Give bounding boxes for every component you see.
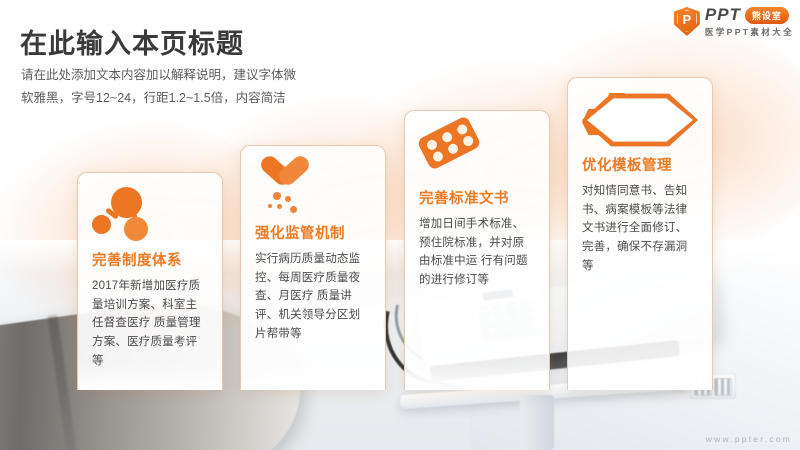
hexagons-icon [582, 92, 698, 148]
feature-card-2-body: 实行病历质量动态监控、每周医疗质量夜查、月医疗 质量讲评、机关领导分区划片帮带等 [255, 250, 371, 343]
feature-card-4[interactable]: 优化模板管理 对知情同意书、告知书、病案模板等法律文书进行全面修订、完善，确保不… [567, 77, 713, 390]
brand-logo-row-top: PPT 熊设室 [705, 5, 794, 25]
feature-card-1-heading: 完善制度体系 [92, 249, 208, 270]
feature-card-2-heading: 强化监管机制 [255, 222, 371, 243]
feature-card-2-bottom-fade [241, 364, 385, 390]
feature-card-4-body: 对知情同意书、告知书、病案模板等法律文书进行全面修订、完善，确保不存漏洞等 [582, 182, 698, 275]
shield-letter: P [674, 13, 700, 26]
feature-card-1[interactable]: 完善制度体系 2017年新增加医疗质量培训方案、科室主任督查医疗 质量管理方案、… [77, 172, 223, 390]
feature-card-3-heading: 完善标准文书 [419, 187, 535, 208]
feature-card-3[interactable]: 完善标准文书 增加日间手术标准、预住院标准，并对原由标准中运 行有问题的进行修订… [404, 110, 550, 390]
feature-card-4-bottom-fade [568, 364, 712, 390]
page-subtitle: 请在此处添加文本内容加以解释说明，建议字体微 软雅黑，字号12~24，行距1.2… [21, 64, 351, 110]
page-subtitle-line-2: 软雅黑，字号12~24，行距1.2~1.5倍，内容简洁 [21, 87, 351, 110]
brand-wordmark: PPT [705, 5, 741, 25]
feature-card-4-heading: 优化模板管理 [582, 154, 698, 175]
page-title: 在此输入本页标题 [20, 22, 244, 61]
slide-canvas: 在此输入本页标题 请在此处添加文本内容加以解释说明，建议字体微 软雅黑，字号12… [0, 0, 800, 450]
brand-tagline: 医学PPT素材大全 [705, 26, 794, 38]
feature-card-2[interactable]: 强化监管机制 实行病历质量动态监控、每周医疗质量夜查、月医疗 质量讲评、机关领导… [240, 145, 386, 390]
molecule-icon [92, 187, 208, 243]
page-subtitle-line-1: 请在此处添加文本内容加以解释说明，建议字体微 [21, 64, 351, 87]
brand-logo-text: PPT 熊设室 医学PPT素材大全 [705, 5, 794, 38]
brand-badge: 熊设室 [745, 7, 789, 24]
brand-logo[interactable]: P PPT 熊设室 医学PPT素材大全 [674, 5, 794, 38]
feature-card-3-body: 增加日间手术标准、预住院标准，并对原由标准中运 行有问题的进行修订等 [419, 215, 535, 290]
shield-icon: P [674, 7, 700, 36]
capsule-icon [255, 160, 371, 216]
pill-blister-icon [419, 125, 535, 181]
feature-card-1-body: 2017年新增加医疗质量培训方案、科室主任督查医疗 质量管理方案、医疗质量考评等 [92, 277, 208, 370]
site-watermark: www.ppter.com [706, 434, 792, 444]
feature-card-3-bottom-fade [405, 364, 549, 390]
